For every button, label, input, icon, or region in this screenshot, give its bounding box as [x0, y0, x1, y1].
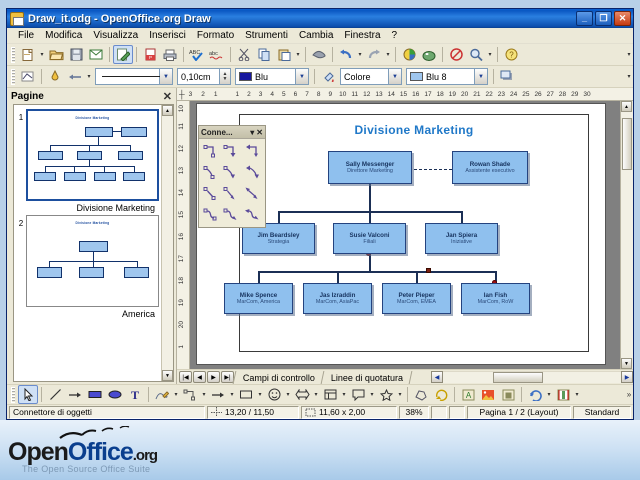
- hruler-tick: 12: [363, 91, 370, 98]
- pages-panel: Pagine ✕ 1 Divisione Marketing: [7, 88, 177, 384]
- line-toolbar-overflow-icon[interactable]: ▾: [625, 67, 633, 86]
- menu-item-strumenti[interactable]: Strumenti: [240, 29, 293, 42]
- connector-to-susie[interactable]: [369, 211, 371, 223]
- text-tool-icon[interactable]: T: [125, 385, 145, 404]
- connector-sally-down[interactable]: [369, 184, 371, 211]
- toolbar-separator: [407, 387, 408, 402]
- line-width-spinner[interactable]: 0,10cm ▲▼: [177, 68, 231, 85]
- gallery-icon[interactable]: [419, 45, 439, 64]
- scroll-down-icon[interactable]: ▼: [621, 358, 632, 369]
- node-name: Susie Valconi: [350, 232, 390, 239]
- copy-icon[interactable]: [254, 45, 274, 64]
- curve-tool-icon[interactable]: [152, 385, 172, 404]
- connector-curved-arrow-both-icon[interactable]: [242, 204, 263, 225]
- hruler-tick: 21: [473, 91, 480, 98]
- menu-item-visualizza[interactable]: Visualizza: [88, 29, 143, 42]
- connector-curved-arrow-end-icon[interactable]: [222, 204, 243, 225]
- hruler-tick: 8: [317, 91, 321, 98]
- hruler-tick: 29: [571, 91, 578, 98]
- position-icon: [211, 407, 222, 417]
- rotate-view-tool-icon[interactable]: [525, 385, 545, 404]
- openoffice-wordmark: OpenOffice.org: [8, 440, 178, 465]
- status-style: Standard: [573, 406, 631, 419]
- toolbar-separator: [493, 69, 494, 84]
- menu-bar: File Modifica Visualizza Inserisci Forma…: [7, 28, 633, 44]
- edit-file-icon[interactable]: [113, 45, 133, 64]
- openoffice-tagline: The Open Source Office Suite: [22, 464, 178, 474]
- nav-next-page-icon[interactable]: ▶: [207, 371, 220, 383]
- select-tool-icon[interactable]: [18, 385, 38, 404]
- toolbar-separator: [41, 387, 42, 402]
- hruler-tick: 1: [214, 91, 218, 98]
- connector-level2-bus[interactable]: [258, 271, 496, 273]
- svg-text:?: ?: [509, 51, 514, 60]
- undo-icon[interactable]: [336, 45, 356, 64]
- fontwork-tool-icon[interactable]: A: [458, 385, 478, 404]
- vertical-ruler[interactable]: 10 11 12 13 14 15 16 17 18 19 20 1: [177, 101, 190, 369]
- vruler-tick: 15: [178, 211, 185, 218]
- title-bar: Draw_it.odg - OpenOffice.org Draw _ ❐ ✕: [7, 9, 633, 28]
- vruler-tick: 19: [178, 299, 185, 306]
- node-rowan-shade[interactable]: Rowan Shade Assistente esecutivo: [452, 151, 528, 184]
- hruler-tick: 27: [547, 91, 554, 98]
- hruler-tick: 28: [559, 91, 566, 98]
- hruler-tick: 5: [282, 91, 286, 98]
- line-color-combo[interactable]: Blu ▼: [235, 68, 309, 85]
- node-role: MarCom, AsiaPac: [316, 299, 359, 305]
- connector-standard-arrow-start-icon[interactable]: [242, 141, 263, 162]
- node-name: Jas Izraddin: [320, 292, 356, 299]
- vruler-tick: 11: [178, 123, 185, 130]
- scroll-track[interactable]: [443, 371, 621, 383]
- callouts-dropdown-icon[interactable]: ▾: [368, 385, 376, 404]
- page-thumbnail[interactable]: Divisione Marketing: [26, 215, 159, 307]
- line-style-dropdown-icon[interactable]: ▼: [159, 69, 172, 84]
- undo-dropdown-icon[interactable]: ▾: [356, 45, 364, 64]
- node-role: Filiali: [363, 239, 375, 245]
- hruler-tick: 23: [498, 91, 505, 98]
- zoom-dropdown-icon[interactable]: ▾: [486, 45, 494, 64]
- status-size-value: 11,60 x 2,00: [319, 407, 365, 417]
- connector-to-jas[interactable]: [337, 271, 339, 283]
- area-style-icon[interactable]: [45, 67, 65, 86]
- horizontal-scrollbar[interactable]: ◀ ▶: [431, 371, 633, 383]
- application-window: Draw_it.odg - OpenOffice.org Draw _ ❐ ✕ …: [6, 8, 634, 420]
- node-name: Rowan Shade: [470, 161, 511, 168]
- toolbar-separator: [454, 387, 455, 402]
- layer-tab-bar: |◀ ◀ ▶ ▶| Campi di controllo Linee di qu…: [177, 369, 633, 384]
- vruler-tick: 12: [178, 145, 185, 152]
- fill-type-value: Colore: [344, 72, 388, 82]
- toolbar-separator: [332, 47, 333, 62]
- scroll-down-icon[interactable]: ▼: [162, 370, 173, 381]
- line-width-spin-icon[interactable]: ▲▼: [219, 69, 230, 84]
- callouts-tool-icon[interactable]: [348, 385, 368, 404]
- menu-item-inserisci[interactable]: Inserisci: [144, 29, 191, 42]
- fill-color-swatch: [410, 72, 423, 81]
- status-zoom[interactable]: 38%: [399, 406, 429, 419]
- rotate-view-dropdown-icon[interactable]: ▾: [545, 385, 553, 404]
- vruler-tick: 13: [178, 167, 185, 174]
- org-chart-frame: Divisione Marketing: [239, 114, 589, 352]
- toolbar-separator: [183, 47, 184, 62]
- openoffice-banner: OpenOffice.org The Open Source Office Su…: [0, 420, 640, 480]
- node-susie-valconi[interactable]: Susie Valconi Filiali: [333, 223, 406, 254]
- connector-standard-icon[interactable]: [201, 141, 222, 162]
- pages-scrollbar[interactable]: ▲ ▼: [161, 105, 173, 381]
- block-arrows-dropdown-icon[interactable]: ▾: [312, 385, 320, 404]
- chart-title: Divisione Marketing: [240, 123, 588, 137]
- window-title: Draw_it.odg - OpenOffice.org Draw: [28, 13, 576, 25]
- vruler-tick: 14: [178, 189, 185, 196]
- connector-straight-arrow-both-icon[interactable]: [242, 183, 263, 204]
- close-button[interactable]: ✕: [614, 11, 631, 26]
- symbol-shapes-dropdown-icon[interactable]: ▾: [284, 385, 292, 404]
- hruler-tick: 1: [236, 91, 240, 98]
- toolbar-grip[interactable]: [11, 47, 15, 63]
- node-jan-spiera[interactable]: Jan Spiera Iniziative: [425, 223, 498, 254]
- connector-tool-icon[interactable]: [180, 385, 200, 404]
- flowchart-tool-icon[interactable]: [320, 385, 340, 404]
- hruler-tick: 3: [189, 91, 193, 98]
- node-role: MarCom, EMEA: [397, 299, 436, 305]
- toolbar-separator: [230, 47, 231, 62]
- standard-toolbar-overflow-icon[interactable]: ▾: [625, 45, 633, 64]
- paste-dropdown-icon[interactable]: ▾: [294, 45, 302, 64]
- thumb-title: Divisione Marketing: [27, 221, 158, 225]
- line-color-value: Blu: [255, 72, 295, 82]
- hruler-tick: 4: [270, 91, 274, 98]
- hruler-tick: 20: [461, 91, 468, 98]
- svg-text:P: P: [148, 55, 151, 60]
- open-icon[interactable]: [46, 45, 66, 64]
- nav-first-page-icon[interactable]: |◀: [179, 371, 192, 383]
- node-sally-messenger[interactable]: Sally Messenger Direttore Marketing: [328, 151, 412, 184]
- minimize-button[interactable]: _: [576, 11, 593, 26]
- page-caption: Divisione Marketing: [26, 201, 159, 213]
- connectors-grid: [199, 139, 265, 227]
- svg-text:A: A: [465, 391, 471, 400]
- connector-line-arrow-end-icon[interactable]: [222, 162, 243, 183]
- export-pdf-icon[interactable]: P: [140, 45, 160, 64]
- node-role: Assistente esecutivo: [465, 168, 514, 174]
- pages-panel-title: Pagine: [11, 91, 163, 102]
- window-buttons: _ ❐ ✕: [576, 11, 631, 26]
- cut-icon[interactable]: [234, 45, 254, 64]
- toolbar-grip[interactable]: [11, 387, 15, 403]
- hruler-tick: 15: [400, 91, 407, 98]
- hruler-tick: 6: [294, 91, 298, 98]
- redo-dropdown-icon[interactable]: ▾: [384, 45, 392, 64]
- symbol-shapes-tool-icon[interactable]: [264, 385, 284, 404]
- layer-tab-linee-di-quotatura[interactable]: Linee di quotatura: [321, 371, 413, 384]
- hruler-tick: 13: [375, 91, 382, 98]
- print-icon[interactable]: [160, 45, 180, 64]
- drawing-toolbar: T ▾ ▾ ▾ ▾ ▾ ▾ ▾ ▾: [7, 384, 633, 404]
- toolbar-separator: [136, 47, 137, 62]
- rotate-tool-icon[interactable]: [431, 385, 451, 404]
- pages-panel-body: 1 Divisione Marketing: [13, 104, 174, 382]
- thumb-title: Divisione Marketing: [28, 116, 157, 120]
- arrow-style-icon[interactable]: [65, 67, 85, 86]
- connector-to-peter[interactable]: [416, 271, 418, 283]
- scroll-right-icon[interactable]: ▶: [621, 371, 633, 383]
- hruler-tick: 18: [437, 91, 444, 98]
- zoom-icon[interactable]: [466, 45, 486, 64]
- pages-list: 1 Divisione Marketing: [14, 105, 161, 381]
- paste-icon[interactable]: [274, 45, 294, 64]
- svg-text:abc: abc: [209, 51, 218, 57]
- toolbar-separator: [442, 47, 443, 62]
- curve-dropdown-icon[interactable]: ▾: [172, 385, 180, 404]
- hruler-tick: 11: [351, 91, 358, 98]
- status-page: Pagina 1 / 2 (Layout): [467, 406, 571, 419]
- flowchart-dropdown-icon[interactable]: ▾: [340, 385, 348, 404]
- work-area: Pagine ✕ 1 Divisione Marketing: [7, 88, 633, 384]
- autospellcheck-icon[interactable]: abc: [207, 45, 227, 64]
- logo-open: Open: [8, 438, 68, 466]
- page-list-item-1[interactable]: 1 Divisione Marketing: [16, 109, 159, 213]
- stars-tool-icon[interactable]: [376, 385, 396, 404]
- toolbar-separator: [314, 69, 315, 84]
- node-ian-fish[interactable]: Ian Fish MarCom, RoW: [461, 283, 530, 314]
- node-role: Strategia: [268, 239, 290, 245]
- close-icon[interactable]: ✕: [256, 128, 263, 137]
- display-grid-icon[interactable]: [446, 45, 466, 64]
- 3d-objects-tool-icon[interactable]: [411, 385, 431, 404]
- connector-line-arrow-both-icon[interactable]: [242, 162, 263, 183]
- connectors-toolbar-title: Conne...: [201, 128, 250, 137]
- toolbar-separator: [109, 47, 110, 62]
- shadow-icon[interactable]: [497, 67, 517, 86]
- logo-org: .org: [133, 447, 157, 464]
- menu-item-modifica[interactable]: Modifica: [40, 29, 87, 42]
- node-role: MarCom, America: [237, 299, 280, 305]
- line-style-combo[interactable]: ▼: [95, 68, 173, 85]
- scroll-thumb[interactable]: [493, 372, 543, 383]
- vertical-scrollbar[interactable]: ▲ ▼: [620, 101, 633, 369]
- hruler-tick: 10: [339, 91, 346, 98]
- logo-office: Office: [68, 438, 133, 466]
- alignment-dropdown-icon[interactable]: ▾: [573, 385, 581, 404]
- node-name: Jan Spiera: [446, 232, 477, 239]
- connector-straight-arrow-end-icon[interactable]: [222, 183, 243, 204]
- fill-color-dropdown-icon[interactable]: ▼: [474, 69, 487, 84]
- connector-to-jim[interactable]: [278, 211, 280, 223]
- vruler-tick: 17: [178, 255, 185, 262]
- line-tool-icon[interactable]: [45, 385, 65, 404]
- node-role: Iniziative: [451, 239, 472, 245]
- scroll-track[interactable]: [621, 170, 633, 358]
- connector-to-mike[interactable]: [258, 271, 260, 283]
- block-arrows-tool-icon[interactable]: [292, 385, 312, 404]
- toolbar-separator: [497, 47, 498, 62]
- connector-line-start-icon[interactable]: [201, 162, 222, 183]
- basic-shapes-dropdown-icon[interactable]: ▾: [256, 385, 264, 404]
- document-row: 10 11 12 13 14 15 16 17 18 19 20 1: [177, 101, 633, 369]
- close-icon[interactable]: ✕: [163, 90, 172, 103]
- new-doc-icon[interactable]: [18, 45, 38, 64]
- status-modified-indicator: [431, 406, 447, 419]
- extrusion-tool-icon[interactable]: [498, 385, 518, 404]
- node-role: MarCom, RoW: [478, 299, 514, 305]
- basic-shapes-tool-icon[interactable]: [236, 385, 256, 404]
- nav-prev-page-icon[interactable]: ◀: [193, 371, 206, 383]
- vruler-tick: 1: [178, 345, 185, 349]
- spellcheck-icon[interactable]: ABC: [187, 45, 207, 64]
- toolbar-separator: [521, 387, 522, 402]
- line-color-dropdown-icon[interactable]: ▼: [295, 69, 308, 84]
- scroll-left-icon[interactable]: ◀: [431, 371, 443, 383]
- menu-item-file[interactable]: File: [13, 29, 39, 42]
- svg-text:ABC: ABC: [189, 50, 200, 56]
- connector-dropdown-icon[interactable]: ▾: [200, 385, 208, 404]
- menu-item-formato[interactable]: Formato: [192, 29, 239, 42]
- drawing-toolbar-overflow-icon[interactable]: »: [625, 385, 633, 404]
- hruler-tick: 16: [412, 91, 419, 98]
- connector-straight-icon[interactable]: [201, 183, 222, 204]
- toolbar-separator: [305, 47, 306, 62]
- node-mike-spence[interactable]: Mike Spence MarCom, America: [224, 283, 293, 314]
- alignment-tool-icon[interactable]: [553, 385, 573, 404]
- redo-icon[interactable]: [364, 45, 384, 64]
- lines-arrows-dropdown-icon[interactable]: ▾: [228, 385, 236, 404]
- hruler-tick: 2: [201, 91, 205, 98]
- fill-color-value: Blu 8: [426, 72, 474, 82]
- document-icon: [10, 12, 24, 26]
- line-color-swatch: [239, 72, 252, 81]
- new-doc-dropdown-icon[interactable]: ▾: [38, 45, 46, 64]
- page-thumbnail[interactable]: Divisione Marketing: [26, 109, 159, 201]
- openoffice-logo: OpenOffice.org The Open Source Office Su…: [8, 426, 178, 474]
- chart-icon[interactable]: [399, 45, 419, 64]
- connector-susie-down[interactable]: [369, 254, 371, 271]
- fill-color-combo[interactable]: Blu 8 ▼: [406, 68, 488, 85]
- stars-dropdown-icon[interactable]: ▾: [396, 385, 404, 404]
- menu-item-cambia[interactable]: Cambia: [294, 29, 338, 42]
- arrow-style-dropdown-icon[interactable]: ▾: [85, 67, 93, 86]
- line-arrow-tool-icon[interactable]: [65, 385, 85, 404]
- toolbar-separator: [41, 69, 42, 84]
- page-list-item-2[interactable]: 2 Divisione Marketing: [16, 215, 159, 319]
- save-icon[interactable]: [66, 45, 86, 64]
- node-name: Sally Messenger: [346, 161, 395, 168]
- status-position: 13,20 / 11,50: [207, 406, 299, 419]
- connector-to-jan[interactable]: [461, 211, 463, 223]
- pages-panel-header: Pagine ✕: [7, 88, 176, 104]
- scroll-thumb[interactable]: [622, 118, 632, 170]
- hruler-tick: 25: [522, 91, 529, 98]
- hruler-tick: 7: [305, 91, 309, 98]
- status-size: 11,60 x 2,00: [301, 406, 397, 419]
- help-icon[interactable]: ?: [501, 45, 521, 64]
- selection-handle-mid[interactable]: [426, 268, 431, 273]
- hruler-tick: 19: [449, 91, 456, 98]
- standard-toolbar: ▾ P ABC abc: [7, 44, 633, 66]
- hruler-tick: 24: [510, 91, 517, 98]
- toolbar-grip[interactable]: [11, 69, 15, 85]
- layer-tab-label: Linee di quotatura: [331, 372, 403, 382]
- hruler-tick: 26: [534, 91, 541, 98]
- toolbar-separator: [148, 387, 149, 402]
- page-number: 2: [16, 215, 26, 319]
- connector-curved-icon[interactable]: [201, 204, 222, 225]
- status-object: Connettore di oggetti: [9, 406, 205, 419]
- maximize-button[interactable]: ❐: [595, 11, 612, 26]
- vruler-tick: 16: [178, 233, 185, 240]
- rectangle-tool-icon[interactable]: [85, 385, 105, 404]
- node-name: Jim Beardsley: [258, 232, 300, 239]
- menu-item-finestra[interactable]: Finestra: [339, 29, 385, 42]
- scroll-up-icon[interactable]: ▲: [621, 101, 632, 112]
- page-number: 1: [16, 109, 26, 213]
- insert-image-tool-icon[interactable]: [478, 385, 498, 404]
- vruler-tick: 10: [178, 105, 185, 112]
- hruler-tick: 22: [486, 91, 493, 98]
- hruler-tick: 30: [583, 91, 590, 98]
- fill-type-combo[interactable]: Colore ▼: [340, 68, 402, 85]
- size-icon: [305, 407, 316, 417]
- scroll-up-icon[interactable]: ▲: [162, 105, 173, 116]
- node-name: Mike Spence: [240, 292, 278, 299]
- line-and-filling-toolbar: ▾ ▼ 0,10cm ▲▼ Blu ▼ Colore ▼ Blu 8 ▼: [7, 66, 633, 88]
- ellipse-tool-icon[interactable]: [105, 385, 125, 404]
- line-width-value: 0,10cm: [181, 72, 219, 82]
- status-position-value: 13,20 / 11,50: [225, 407, 274, 417]
- hruler-tick: 9: [329, 91, 333, 98]
- area-fill-icon[interactable]: [318, 67, 338, 86]
- lines-arrows-tool-icon[interactable]: [208, 385, 228, 404]
- page-caption: America: [26, 307, 159, 319]
- node-name: Ian Fish: [484, 292, 507, 299]
- document-column: ┼ 3 2 1 1 2 3 4 5 6 7 8 9 10 11 12 13 14…: [177, 88, 633, 384]
- hruler-tick: 2: [247, 91, 251, 98]
- hruler-tick: 14: [388, 91, 395, 98]
- toolbar-separator: [395, 47, 396, 62]
- node-jas-izraddin[interactable]: Jas Izraddin MarCom, AsiaPac: [303, 283, 372, 314]
- status-bar: Connettore di oggetti 13,20 / 11,50 11,6…: [7, 404, 633, 419]
- connectors-toolbar-titlebar[interactable]: Conne... ▾ ✕: [199, 126, 265, 139]
- node-peter-pieper[interactable]: Peter Pieper MarCom, EMEA: [382, 283, 451, 314]
- drawing-canvas[interactable]: Divisione Marketing: [190, 101, 620, 369]
- line-tool-icon[interactable]: [18, 67, 38, 86]
- hruler-tick: 3: [259, 91, 263, 98]
- connectors-floating-toolbar[interactable]: Conne... ▾ ✕: [198, 125, 266, 228]
- layer-tab-campi-di-controllo[interactable]: Campi di controllo: [233, 371, 325, 384]
- status-signature-indicator: [449, 406, 465, 419]
- node-name: Peter Pieper: [398, 292, 434, 299]
- chevron-down-icon[interactable]: ▾: [250, 128, 254, 137]
- connector-standard-arrow-end-icon[interactable]: [222, 141, 243, 162]
- menu-item-help[interactable]: ?: [387, 29, 403, 42]
- fill-type-dropdown-icon[interactable]: ▼: [388, 69, 401, 84]
- email-icon[interactable]: [86, 45, 106, 64]
- vruler-tick: 18: [178, 277, 185, 284]
- clone-formatting-icon[interactable]: [309, 45, 329, 64]
- horizontal-ruler[interactable]: ┼ 3 2 1 1 2 3 4 5 6 7 8 9 10 11 12 13 14…: [177, 88, 633, 101]
- hruler-tick: 17: [424, 91, 431, 98]
- node-role: Direttore Marketing: [347, 168, 393, 174]
- layer-tab-empty: [409, 371, 429, 384]
- vruler-tick: 20: [178, 321, 185, 328]
- layer-tab-label: Campi di controllo: [243, 372, 315, 382]
